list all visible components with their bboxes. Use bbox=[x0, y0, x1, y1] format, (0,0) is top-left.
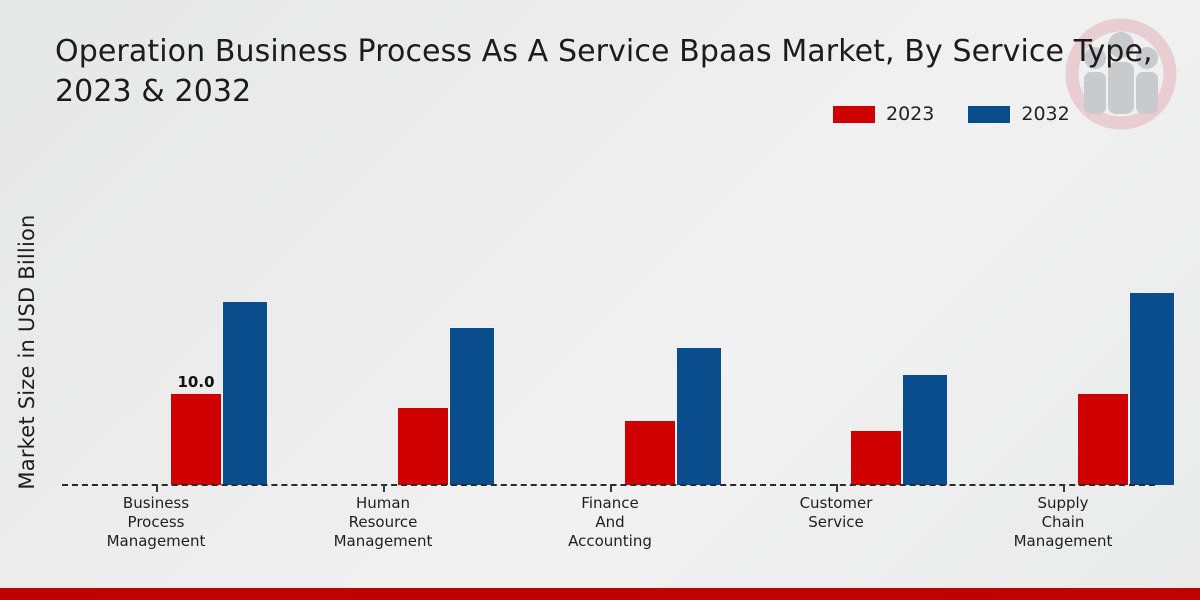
bar-group-finance-and-accounting bbox=[624, 347, 722, 485]
bar-2032-human-resource-management[interactable] bbox=[449, 327, 495, 485]
footer-accent-strip bbox=[0, 588, 1200, 600]
bar-2032-business-process-management[interactable] bbox=[222, 301, 268, 485]
bar-group-business-process-management: 10.0 bbox=[170, 301, 268, 485]
x-axis-tick bbox=[383, 484, 385, 492]
x-axis-label-human-resource-management: Human Resource Management bbox=[298, 494, 468, 552]
bar-2023-human-resource-management[interactable] bbox=[397, 407, 449, 485]
legend-swatch-2023 bbox=[833, 106, 875, 123]
y-axis-title: Market Size in USD Billion bbox=[15, 182, 39, 522]
legend-item-2023[interactable]: 2023 bbox=[833, 103, 934, 125]
x-axis-label-finance-and-accounting: Finance And Accounting bbox=[525, 494, 695, 552]
bar-2032-supply-chain-management[interactable] bbox=[1129, 292, 1175, 485]
bar-group-supply-chain-management bbox=[1077, 292, 1175, 485]
x-axis-label-supply-chain-management: Supply Chain Management bbox=[978, 494, 1148, 552]
bar-2023-business-process-management[interactable]: 10.0 bbox=[170, 393, 222, 485]
chart-legend: 2023 2032 bbox=[833, 103, 1070, 125]
x-axis-tick bbox=[156, 484, 158, 492]
legend-label-2023: 2023 bbox=[886, 103, 934, 125]
bar-2023-supply-chain-management[interactable] bbox=[1077, 393, 1129, 485]
x-axis-tick bbox=[836, 484, 838, 492]
x-axis-tick bbox=[1063, 484, 1065, 492]
x-axis-label-customer-service: Customer Service bbox=[751, 494, 921, 532]
page-title: Operation Business Process As A Service … bbox=[55, 32, 1200, 112]
bar-group-customer-service bbox=[850, 374, 948, 485]
plot-area: 10.0 bbox=[62, 140, 1152, 485]
bar-value-label: 10.0 bbox=[177, 373, 214, 391]
bar-2023-finance-and-accounting[interactable] bbox=[624, 420, 676, 485]
x-axis-label-business-process-management: Business Process Management bbox=[71, 494, 241, 552]
x-axis-baseline bbox=[62, 484, 1155, 486]
legend-item-2032[interactable]: 2032 bbox=[968, 103, 1069, 125]
bar-2032-finance-and-accounting[interactable] bbox=[676, 347, 722, 485]
x-axis-tick bbox=[610, 484, 612, 492]
bar-2032-customer-service[interactable] bbox=[902, 374, 948, 485]
legend-swatch-2032 bbox=[968, 106, 1010, 123]
legend-label-2032: 2032 bbox=[1021, 103, 1069, 125]
bar-group-human-resource-management bbox=[397, 327, 495, 485]
chart-page: Operation Business Process As A Service … bbox=[0, 0, 1200, 600]
bar-2023-customer-service[interactable] bbox=[850, 430, 902, 485]
